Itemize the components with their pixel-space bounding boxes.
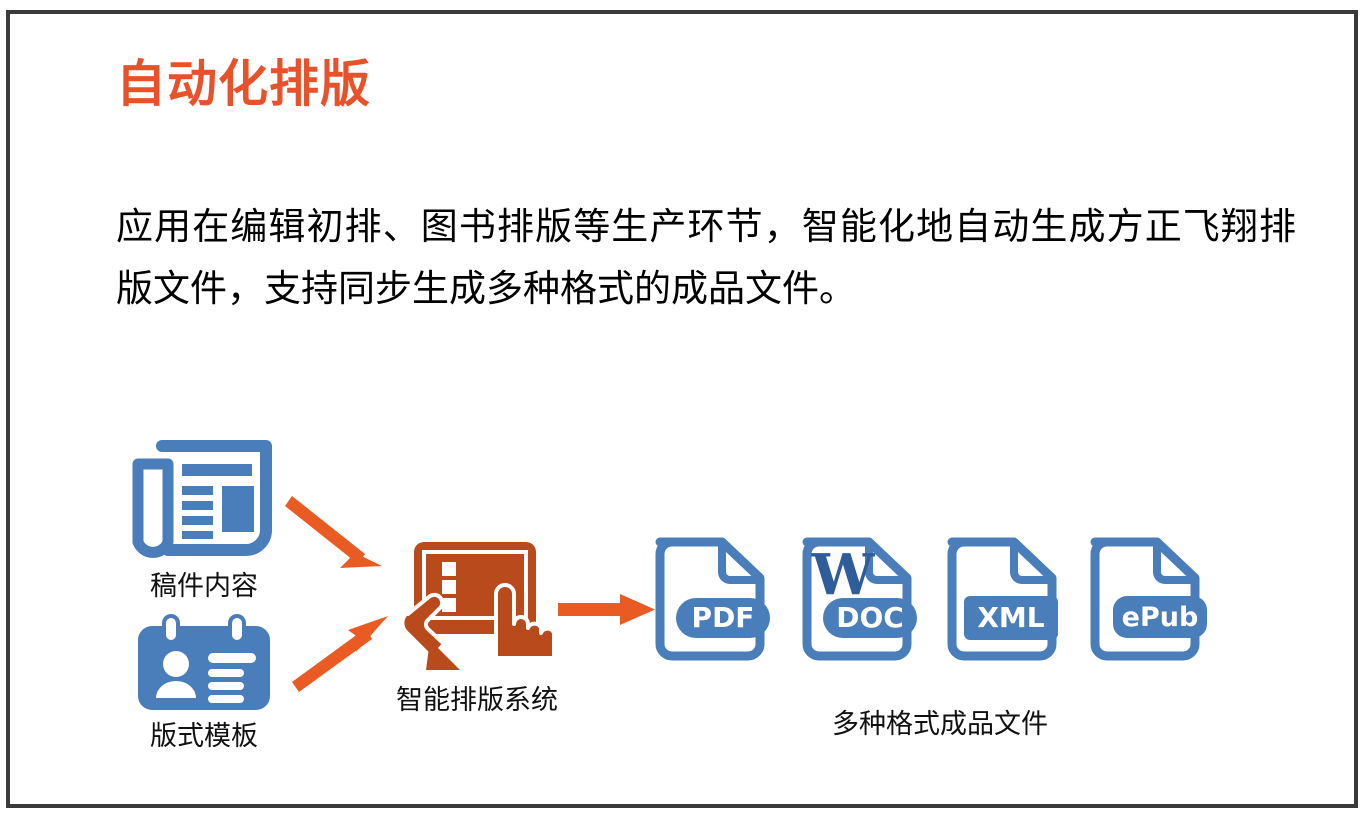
- slide-content: 自动化排版 应用在编辑初排、图书排版等生产环节，智能化地自动生成方正飞翔排版文件…: [10, 14, 1354, 804]
- diagram-node-manuscript-label: 稿件内容: [150, 572, 258, 602]
- file-xml-icon[interactable]: XML: [940, 532, 1065, 666]
- diagram-node-template[interactable]: 版式模板: [134, 612, 274, 712]
- tablet-touch-icon: [402, 536, 552, 676]
- newspaper-icon: [128, 434, 280, 562]
- diagram-node-system-label: 智能排版系统: [396, 686, 558, 716]
- file-doc-badge-text: DOC: [836, 601, 904, 634]
- diagram-node-system[interactable]: 智能排版系统: [402, 536, 552, 676]
- arrow-diagonal-up-right-icon: [292, 616, 388, 692]
- file-pdf-badge-text: PDF: [692, 601, 755, 634]
- output-file-group: PDF W DOC: [640, 532, 1240, 712]
- file-doc-icon[interactable]: W DOC: [795, 532, 920, 666]
- process-diagram: 稿件内容: [10, 414, 1362, 794]
- body-paragraph: 应用在编辑初排、图书排版等生产环节，智能化地自动生成方正飞翔排版文件，支持同步生…: [116, 196, 1296, 320]
- file-pdf-icon[interactable]: PDF: [648, 532, 773, 666]
- id-badge-icon: [134, 612, 274, 712]
- file-epub-icon[interactable]: ePub: [1083, 532, 1208, 666]
- slide-frame: 自动化排版 应用在编辑初排、图书排版等生产环节，智能化地自动生成方正飞翔排版文件…: [6, 10, 1358, 808]
- file-xml-badge-text: XML: [977, 601, 1044, 634]
- diagram-node-template-label: 版式模板: [150, 722, 258, 752]
- page-title: 自动化排版: [116, 54, 371, 114]
- file-epub-badge-text: ePub: [1122, 602, 1199, 633]
- arrow-diagonal-down-right-icon: [285, 496, 382, 568]
- output-group-label: 多种格式成品文件: [640, 702, 1240, 741]
- diagram-node-manuscript[interactable]: 稿件内容: [128, 434, 280, 562]
